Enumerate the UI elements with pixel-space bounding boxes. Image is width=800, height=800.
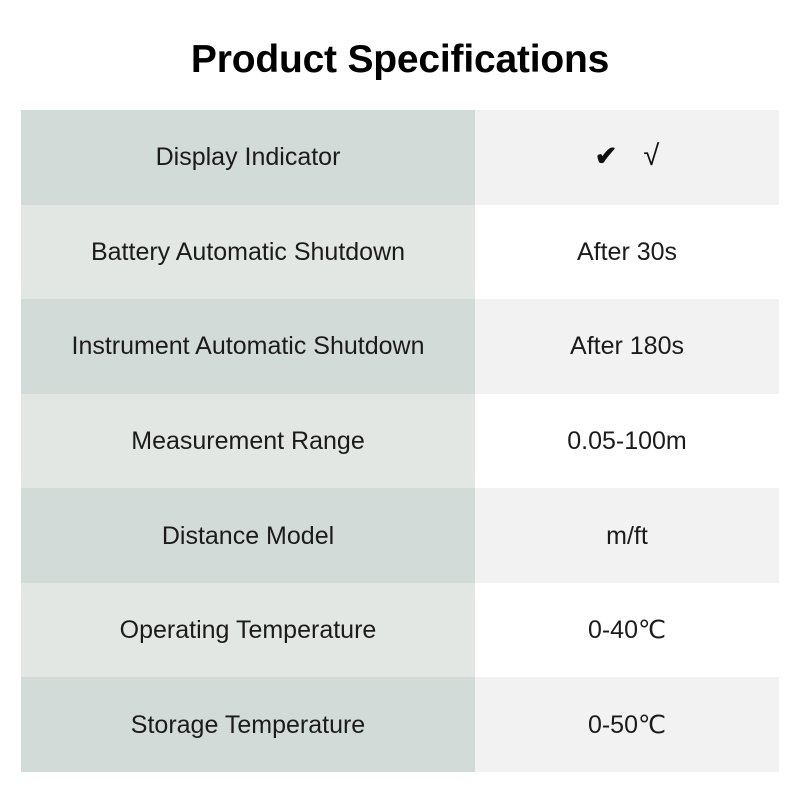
spec-label-instrument-automatic-shutdown: Instrument Automatic Shutdown [21, 299, 475, 394]
specifications-table: Display Indicator ✔ √ Battery Automatic … [21, 110, 779, 772]
check-heavy-icon: ✔ [595, 143, 618, 170]
spec-value-measurement-range: 0.05-100m [475, 394, 779, 489]
spec-value-battery-automatic-shutdown: After 30s [475, 205, 779, 300]
spec-value-distance-model: m/ft [475, 488, 779, 583]
spec-label-battery-automatic-shutdown: Battery Automatic Shutdown [21, 205, 475, 300]
spec-value-storage-temperature: 0-50℃ [475, 677, 779, 772]
page-title: Product Specifications [0, 36, 800, 84]
spec-label-measurement-range: Measurement Range [21, 394, 475, 489]
spec-label-operating-temperature: Operating Temperature [21, 583, 475, 678]
table-row: Distance Model m/ft [21, 488, 779, 583]
spec-value-instrument-automatic-shutdown: After 180s [475, 299, 779, 394]
specification-sheet: Product Specifications Display Indicator… [0, 0, 800, 800]
table-row: Measurement Range 0.05-100m [21, 394, 779, 489]
table-row: Storage Temperature 0-50℃ [21, 677, 779, 772]
check-thin-icon: √ [643, 142, 659, 171]
spec-value-operating-temperature: 0-40℃ [475, 583, 779, 678]
table-row: Display Indicator ✔ √ [21, 110, 779, 205]
spec-value-display-indicator: ✔ √ [475, 110, 779, 205]
spec-label-distance-model: Distance Model [21, 488, 475, 583]
table-row: Instrument Automatic Shutdown After 180s [21, 299, 779, 394]
table-row: Operating Temperature 0-40℃ [21, 583, 779, 678]
spec-label-storage-temperature: Storage Temperature [21, 677, 475, 772]
check-group: ✔ √ [595, 143, 660, 172]
spec-label-display-indicator: Display Indicator [21, 110, 475, 205]
table-row: Battery Automatic Shutdown After 30s [21, 205, 779, 300]
